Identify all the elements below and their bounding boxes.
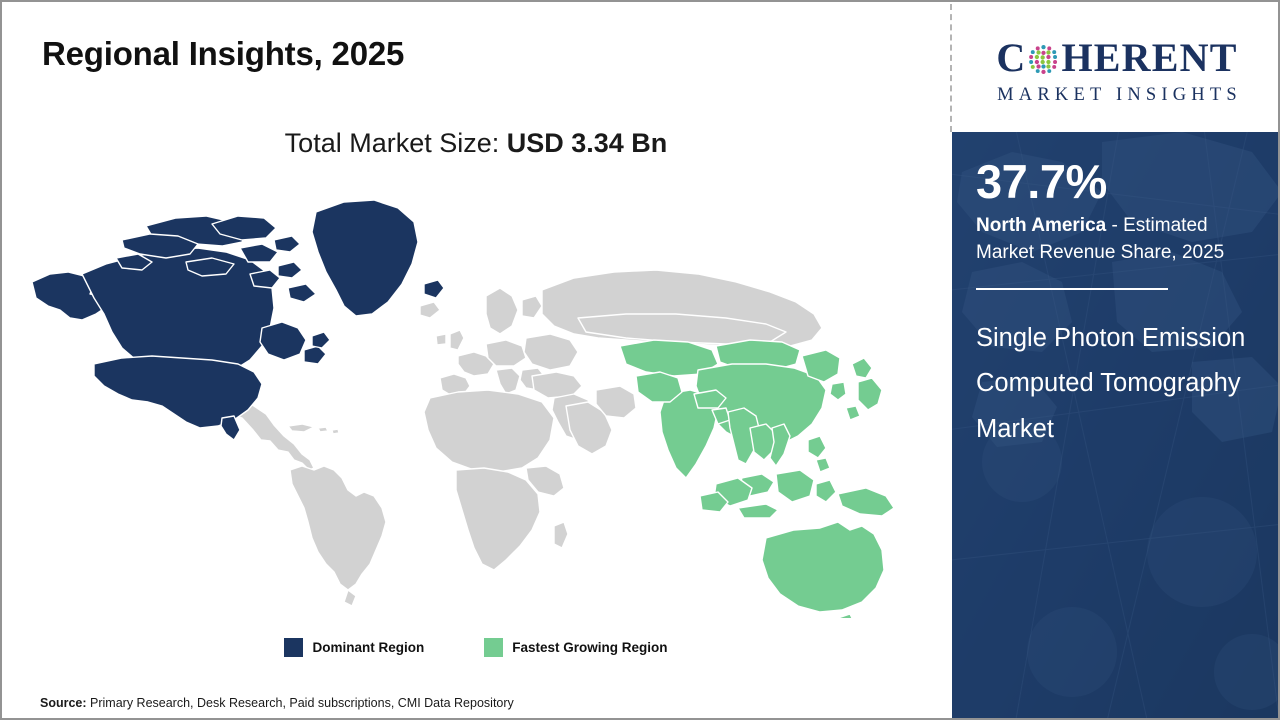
globe-dots-icon <box>1027 43 1060 76</box>
logo-text-herent: HERENT <box>1061 38 1237 78</box>
source-note: Source: Primary Research, Desk Research,… <box>40 696 514 710</box>
page-title: Regional Insights, 2025 <box>42 35 404 73</box>
company-logo[interactable]: C <box>952 2 1280 132</box>
legend-swatch-fastest-growing <box>484 638 503 657</box>
stat-description: North America - Estimated Market Revenue… <box>976 213 1258 267</box>
total-market-size: Total Market Size: USD 3.34 Bn <box>2 128 950 159</box>
source-text: Primary Research, Desk Research, Paid su… <box>87 696 514 710</box>
legend-label-dominant: Dominant Region <box>312 640 424 655</box>
infographic-page: Regional Insights, 2025 Total Market Siz… <box>0 0 1280 720</box>
left-content-pane: Regional Insights, 2025 Total Market Siz… <box>2 2 950 720</box>
map-legend: Dominant Region Fastest Growing Region <box>2 638 950 657</box>
logo-wordmark-row: C <box>996 34 1237 82</box>
stat-panel: 37.7% North America - Estimated Market R… <box>952 132 1280 720</box>
stat-content: 37.7% North America - Estimated Market R… <box>952 157 1280 452</box>
legend-label-fastest-growing: Fastest Growing Region <box>512 640 667 655</box>
world-map[interactable] <box>26 178 906 618</box>
legend-swatch-dominant <box>284 638 303 657</box>
market-size-label: Total Market Size: <box>285 128 507 158</box>
legend-item-dominant[interactable]: Dominant Region <box>284 638 424 657</box>
legend-item-fastest-growing[interactable]: Fastest Growing Region <box>484 638 667 657</box>
map-region-north-america[interactable] <box>32 200 444 440</box>
market-size-value: USD 3.34 Bn <box>507 128 668 158</box>
right-sidebar: C <box>952 2 1280 720</box>
stat-region-name: North America <box>976 215 1106 236</box>
stat-divider-rule <box>976 288 1168 290</box>
logo-subtitle: MARKET INSIGHTS <box>992 85 1242 106</box>
map-region-asia-pacific[interactable] <box>620 340 906 618</box>
stat-percentage: 37.7% <box>976 157 1258 206</box>
source-label: Source: <box>40 696 87 710</box>
logo-letter-c: C <box>996 38 1026 78</box>
market-title: Single Photon Emission Computed Tomograp… <box>976 316 1258 451</box>
map-region-rest-of-world <box>202 270 822 606</box>
